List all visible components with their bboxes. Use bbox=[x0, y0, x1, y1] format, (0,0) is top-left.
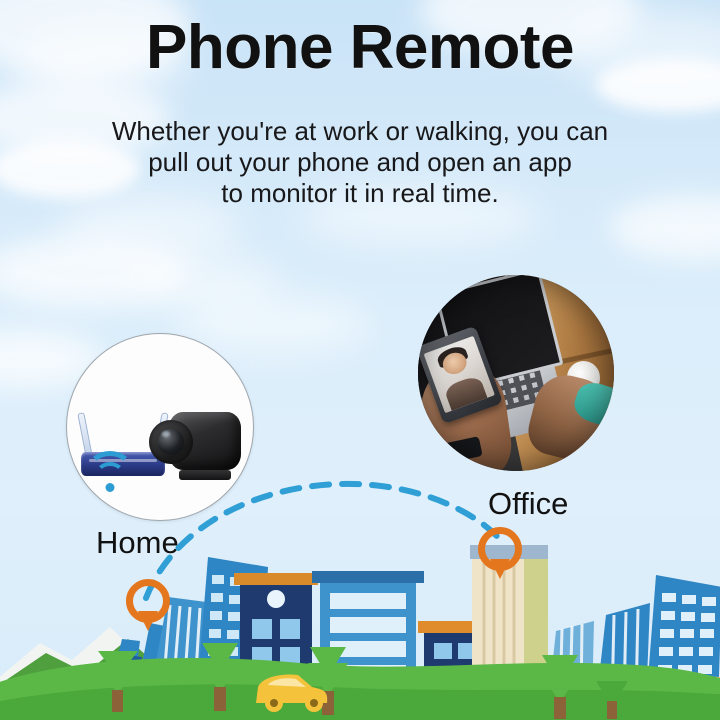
pin-head bbox=[126, 579, 170, 623]
subtitle-line: pull out your phone and open an app bbox=[60, 147, 660, 178]
camera-lens-glint bbox=[162, 431, 170, 437]
city-skyline bbox=[0, 535, 720, 720]
poster-root: Phone Remote Whether you're at work or w… bbox=[0, 0, 720, 720]
cloud-icon bbox=[0, 236, 190, 308]
page-title: Phone Remote bbox=[0, 12, 720, 84]
subtitle-line: to monitor it in real time. bbox=[60, 178, 660, 209]
page-subtitle: Whether you're at work or walking, you c… bbox=[60, 116, 660, 209]
cloud-icon bbox=[130, 256, 280, 308]
photo-vignette bbox=[418, 275, 614, 471]
pin-head bbox=[478, 527, 522, 571]
camera-lens-ring bbox=[149, 420, 193, 464]
office-photo-circle bbox=[418, 275, 614, 471]
photo-phone-and-laptop bbox=[418, 275, 614, 471]
subtitle-line: Whether you're at work or walking, you c… bbox=[60, 116, 660, 147]
cloud-icon bbox=[180, 296, 370, 352]
